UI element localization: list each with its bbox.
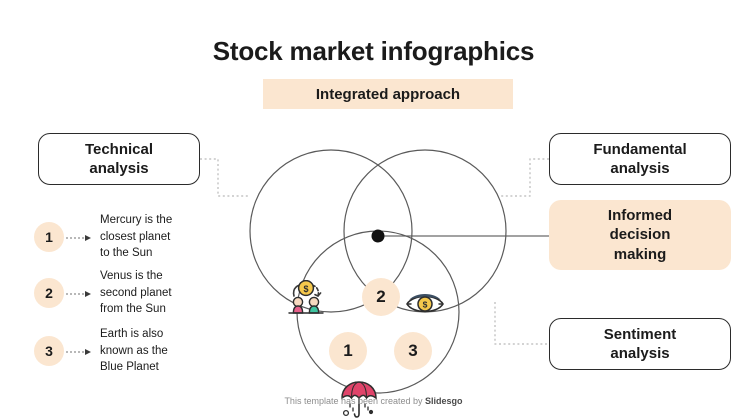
list-number-badge: 2 (34, 278, 64, 308)
informed-label-line1: Informed (608, 206, 672, 226)
footer-prefix: This template has been created by (284, 396, 425, 406)
list-item-line2: known as the (100, 343, 226, 360)
label-box-informed-decision-making[interactable]: Informed decision making (549, 200, 731, 270)
list-item: 3 Earth is also known as the Blue Planet (34, 326, 224, 382)
list-number-badge: 1 (34, 222, 64, 252)
technical-label-line1: Technical (85, 140, 153, 159)
infographic-slide: Stock market infographics Integrated app… (0, 0, 747, 420)
venn-center-dot (372, 230, 385, 243)
list-item-line3: from the Sun (100, 301, 226, 318)
svg-text:$: $ (303, 284, 308, 294)
list-item: 2 Venus is the second planet from the Su… (34, 268, 224, 324)
venn-number-2: 2 (362, 278, 400, 316)
list-item-line1: Earth is also (100, 326, 226, 343)
page-title: Stock market infographics (0, 36, 747, 67)
list-item-text: Venus is the second planet from the Sun (100, 268, 226, 318)
dotted-arrow-icon (66, 348, 94, 356)
money-exchange-people-icon: $ (284, 280, 328, 320)
banner-label: Integrated approach (316, 86, 460, 103)
list-item-line1: Venus is the (100, 268, 226, 285)
venn-number-3: 3 (394, 332, 432, 370)
list-number-badge: 3 (34, 336, 64, 366)
label-box-technical-analysis[interactable]: Technical analysis (38, 133, 200, 185)
list-item-text: Mercury is the closest planet to the Sun (100, 212, 226, 262)
venn-number-1: 1 (329, 332, 367, 370)
sentiment-label-line2: analysis (604, 344, 677, 363)
label-box-sentiment-analysis[interactable]: Sentiment analysis (549, 318, 731, 370)
list-item-line3: Blue Planet (100, 359, 226, 376)
list-item-line2: closest planet (100, 229, 226, 246)
eye-dollar-icon: $ (404, 289, 446, 317)
list-item: 1 Mercury is the closest planet to the S… (34, 212, 224, 268)
footer-credit: This template has been created by Slides… (0, 396, 747, 406)
venn-diagram: 1 2 3 $ $ (238, 104, 518, 394)
dotted-arrow-icon (66, 234, 94, 242)
list-item-line3: to the Sun (100, 245, 226, 262)
list-item-text: Earth is also known as the Blue Planet (100, 326, 226, 376)
fundamental-label-line1: Fundamental (593, 140, 686, 159)
dotted-arrow-icon (66, 290, 94, 298)
informed-label-line2: decision (608, 225, 672, 245)
sentiment-label-line1: Sentiment (604, 325, 677, 344)
footer-brand[interactable]: Slidesgo (425, 396, 463, 406)
list-item-line1: Mercury is the (100, 212, 226, 229)
list-item-line2: second planet (100, 285, 226, 302)
fundamental-label-line2: analysis (593, 159, 686, 178)
svg-text:$: $ (423, 300, 428, 310)
technical-label-line2: analysis (85, 159, 153, 178)
informed-label-line3: making (608, 245, 672, 265)
label-box-fundamental-analysis[interactable]: Fundamental analysis (549, 133, 731, 185)
